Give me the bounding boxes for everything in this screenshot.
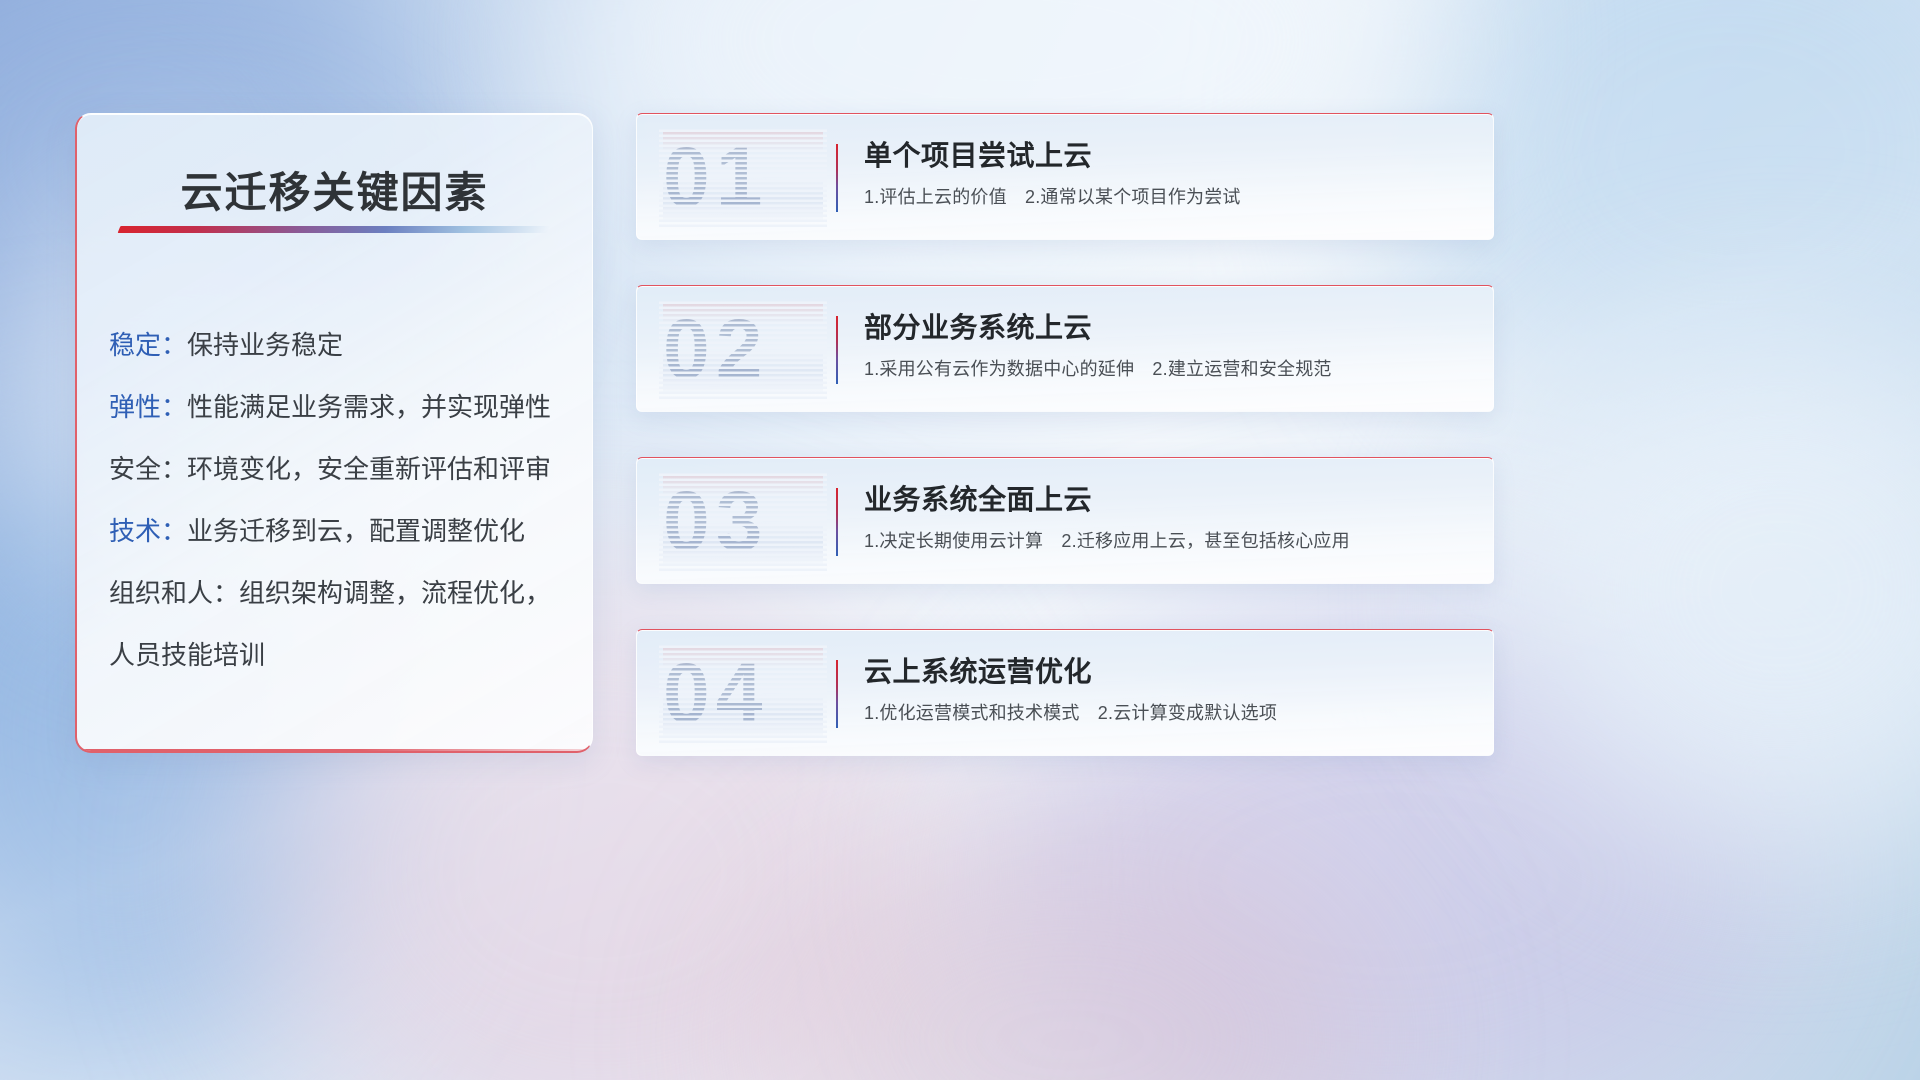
stage-card-text: 单个项目尝试上云 1.评估上云的价值 2.通常以某个项目作为尝试: [864, 136, 1473, 210]
factor-row: 稳定：保持业务稳定: [109, 314, 572, 376]
stage-card-02[interactable]: 02 部分业务系统上云 1.采用公有云作为数据中心的延伸 2.建立运营和安全规范: [636, 285, 1494, 412]
gradient-divider-icon: [836, 316, 838, 384]
stage-subtitle: 1.采用公有云作为数据中心的延伸 2.建立运营和安全规范: [864, 356, 1473, 382]
gradient-divider-icon: [836, 488, 838, 556]
key-factors-list: 稳定：保持业务稳定弹性：性能满足业务需求，并实现弹性安全：环境变化，安全重新评估…: [109, 314, 572, 686]
stage-number-01: 01: [663, 131, 823, 223]
stage-number-glyph: 01: [663, 131, 823, 223]
factor-description: 业务迁移到云，配置调整优化: [187, 516, 525, 546]
factor-label: 稳定：: [109, 330, 187, 360]
factor-label: 安全：: [109, 454, 187, 484]
stage-number-glyph: 03: [663, 475, 823, 567]
factor-row: 技术：业务迁移到云，配置调整优化: [109, 500, 572, 562]
stage-number-glyph: 04: [663, 647, 823, 739]
stage-title: 单个项目尝试上云: [864, 136, 1473, 176]
stage-card-04[interactable]: 04 云上系统运营优化 1.优化运营模式和技术模式 2.云计算变成默认选项: [636, 629, 1494, 756]
stage-card-03[interactable]: 03 业务系统全面上云 1.决定长期使用云计算 2.迁移应用上云，甚至包括核心应…: [636, 457, 1494, 584]
factor-description: 组织架构调整，流程优化，: [239, 578, 551, 608]
factor-row: 组织和人：组织架构调整，流程优化，: [109, 562, 572, 624]
stage-card-text: 部分业务系统上云 1.采用公有云作为数据中心的延伸 2.建立运营和安全规范: [864, 308, 1473, 382]
stage-card-01[interactable]: 01 单个项目尝试上云 1.评估上云的价值 2.通常以某个项目作为尝试: [636, 113, 1494, 240]
stage-subtitle: 1.决定长期使用云计算 2.迁移应用上云，甚至包括核心应用: [864, 528, 1473, 554]
factor-description: 保持业务稳定: [187, 330, 343, 360]
factor-description: 人员技能培训: [109, 640, 265, 670]
stage-number-04: 04: [663, 647, 823, 739]
factor-label: 技术：: [109, 516, 187, 546]
title-underline-accent: [118, 226, 551, 233]
page-title: 云迁移关键因素: [77, 159, 592, 220]
factor-row: 弹性：性能满足业务需求，并实现弹性: [109, 376, 572, 438]
stage-subtitle: 1.评估上云的价值 2.通常以某个项目作为尝试: [864, 184, 1473, 210]
stage-subtitle: 1.优化运营模式和技术模式 2.云计算变成默认选项: [864, 700, 1473, 726]
stage-card-text: 业务系统全面上云 1.决定长期使用云计算 2.迁移应用上云，甚至包括核心应用: [864, 480, 1473, 554]
stage-number-glyph: 02: [663, 303, 823, 395]
factor-description: 性能满足业务需求，并实现弹性: [187, 392, 551, 422]
slide-stage: 云迁移关键因素 稳定：保持业务稳定弹性：性能满足业务需求，并实现弹性安全：环境变…: [0, 0, 1920, 1080]
factor-description: 环境变化，安全重新评估和评审: [187, 454, 551, 484]
stage-title: 云上系统运营优化: [864, 652, 1473, 692]
gradient-divider-icon: [836, 144, 838, 212]
stage-number-03: 03: [663, 475, 823, 567]
stage-number-02: 02: [663, 303, 823, 395]
stage-title: 业务系统全面上云: [864, 480, 1473, 520]
factor-row: 人员技能培训: [109, 624, 572, 686]
factor-label: 组织和人：: [109, 578, 239, 608]
stage-card-text: 云上系统运营优化 1.优化运营模式和技术模式 2.云计算变成默认选项: [864, 652, 1473, 726]
stage-title: 部分业务系统上云: [864, 308, 1473, 348]
factor-row: 安全：环境变化，安全重新评估和评审: [109, 438, 572, 500]
key-factors-panel: 云迁移关键因素 稳定：保持业务稳定弹性：性能满足业务需求，并实现弹性安全：环境变…: [75, 113, 593, 753]
gradient-divider-icon: [836, 660, 838, 728]
factor-label: 弹性：: [109, 392, 187, 422]
